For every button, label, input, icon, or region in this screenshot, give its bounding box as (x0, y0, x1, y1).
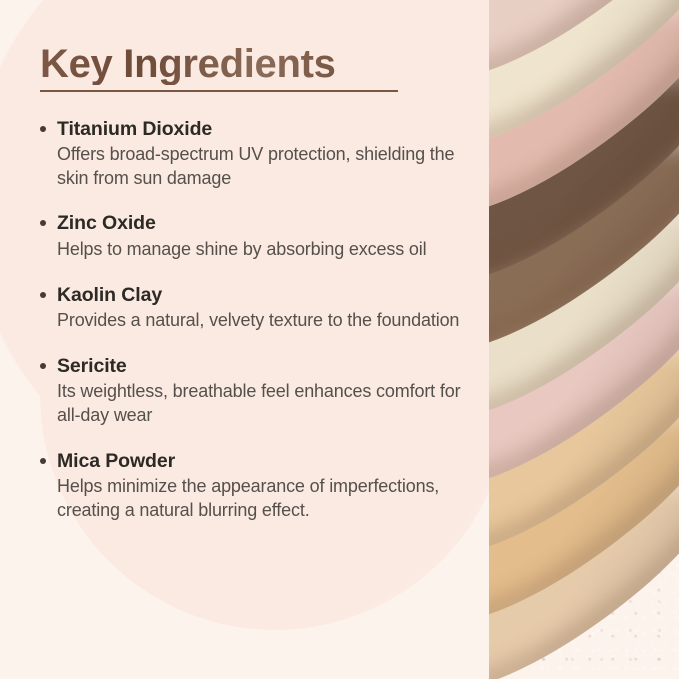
ingredient-name: Sericite (38, 354, 470, 378)
page-title: Key Ingredients (40, 43, 398, 85)
bullet-icon (40, 292, 46, 298)
bullet-icon (40, 458, 46, 464)
bullet-icon (40, 363, 46, 369)
list-item: Mica PowderHelps minimize the appearance… (38, 449, 470, 523)
content-column: Key Ingredients Titanium DioxideOffers b… (0, 0, 470, 543)
list-item: Zinc OxideHelps to manage shine by absor… (38, 211, 470, 261)
title-underline (40, 90, 398, 92)
title-block: Key Ingredients (40, 43, 398, 92)
ingredient-description: Provides a natural, velvety texture to t… (38, 309, 470, 333)
ingredient-list: Titanium DioxideOffers broad-spectrum UV… (38, 117, 470, 523)
ingredient-description: Its weightless, breathable feel enhances… (38, 380, 470, 428)
bullet-icon (40, 126, 46, 132)
powder-swatch-image (489, 0, 679, 679)
ingredient-name: Mica Powder (38, 449, 470, 473)
ingredient-name: Kaolin Clay (38, 283, 470, 307)
ingredients-infographic: Key Ingredients Titanium DioxideOffers b… (0, 0, 679, 679)
ingredient-description: Offers broad-spectrum UV protection, shi… (38, 143, 470, 191)
ingredient-name: Zinc Oxide (38, 211, 470, 235)
ingredient-description: Helps minimize the appearance of imperfe… (38, 475, 470, 523)
list-item: SericiteIts weightless, breathable feel … (38, 354, 470, 428)
list-item: Kaolin ClayProvides a natural, velvety t… (38, 283, 470, 333)
list-item: Titanium DioxideOffers broad-spectrum UV… (38, 117, 470, 191)
ingredient-name: Titanium Dioxide (38, 117, 470, 141)
ingredient-description: Helps to manage shine by absorbing exces… (38, 238, 470, 262)
